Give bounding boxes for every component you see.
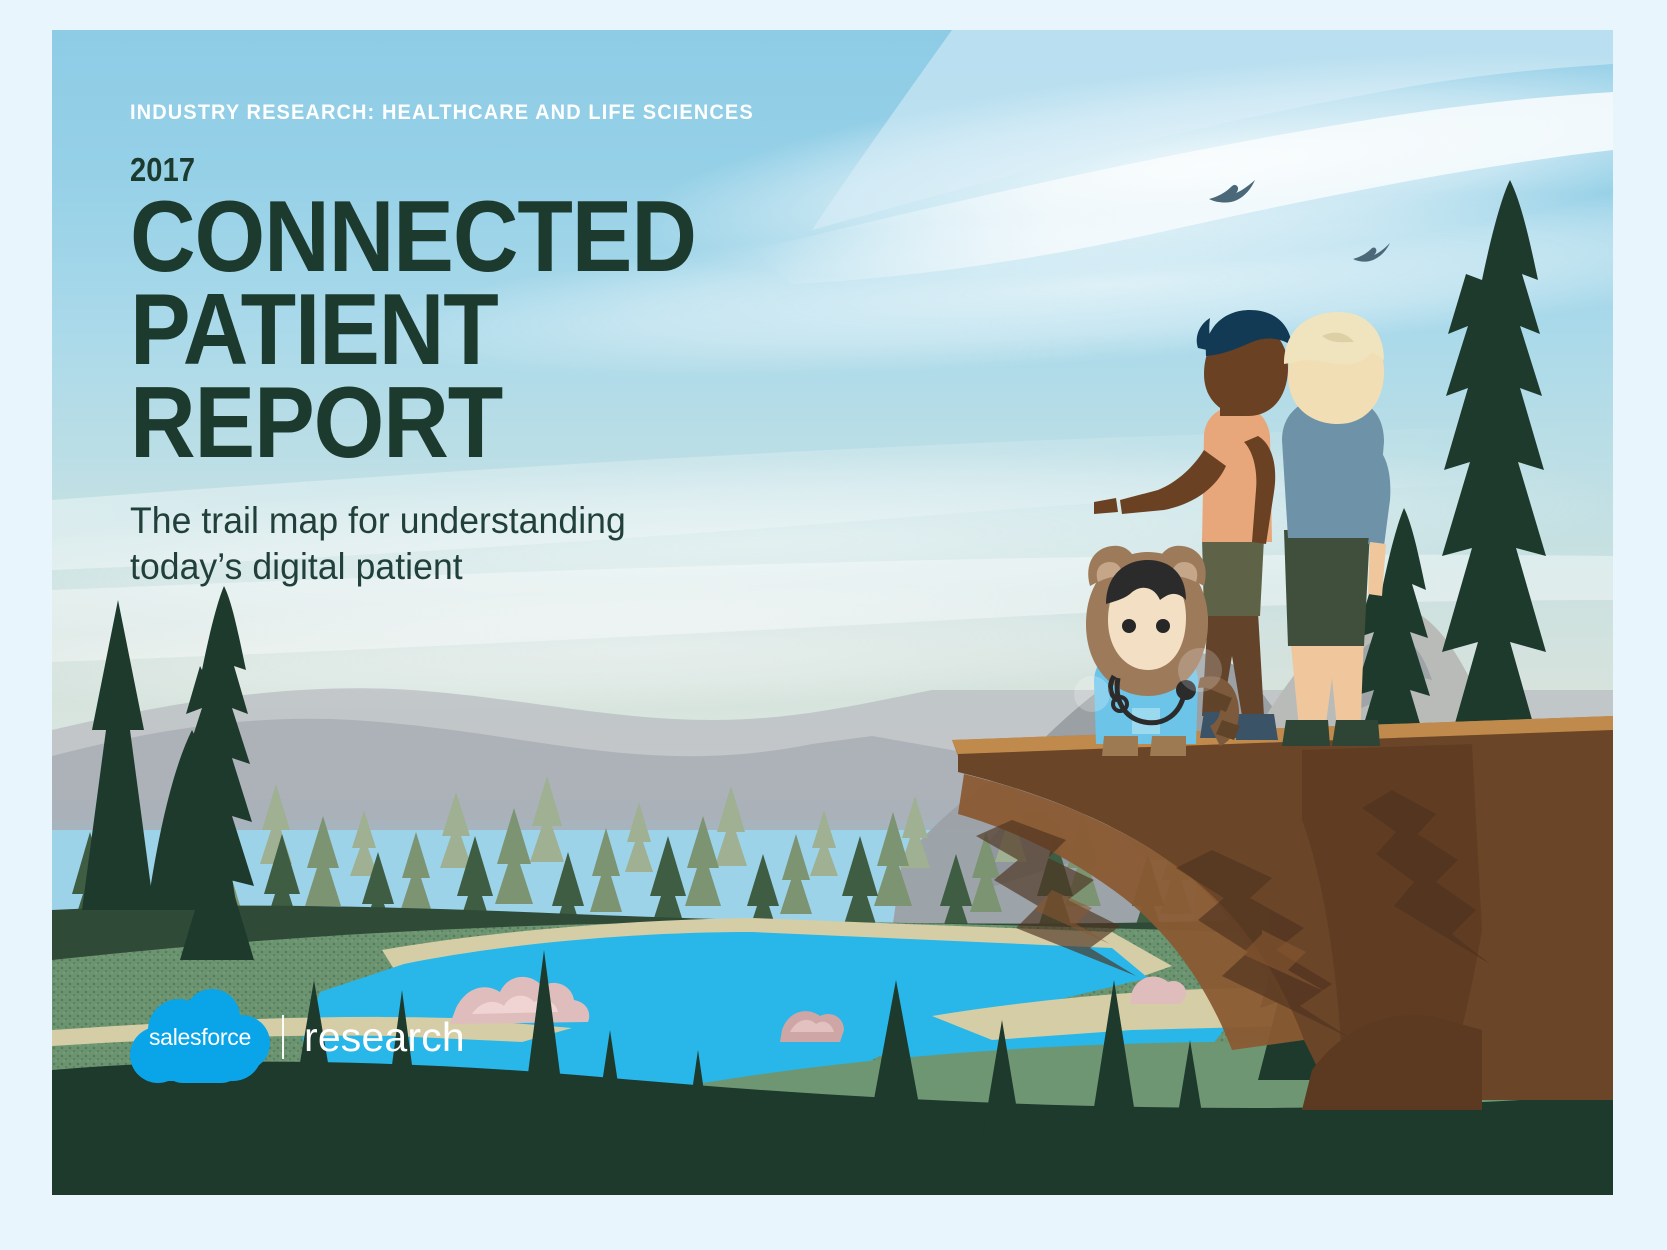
salesforce-wordmark-text: salesforce: [149, 1024, 251, 1051]
salesforce-wordmark: salesforce: [130, 989, 270, 1085]
cover-artwork: INDUSTRY RESEARCH: HEALTHCARE AND LIFE S…: [52, 30, 1613, 1195]
title-line-2: PATIENT: [130, 284, 868, 377]
cover-text-block: INDUSTRY RESEARCH: HEALTHCARE AND LIFE S…: [130, 100, 950, 589]
eyebrow-label: INDUSTRY RESEARCH: HEALTHCARE AND LIFE S…: [130, 100, 893, 125]
title-line-3: REPORT: [130, 377, 868, 470]
page-subtitle: The trail map for understanding today’s …: [130, 498, 917, 590]
salesforce-cloud-icon: salesforce: [130, 989, 270, 1085]
research-wordmark: research: [304, 1014, 465, 1061]
logo-divider: [282, 1015, 284, 1059]
subtitle-line-2: today’s digital patient: [130, 544, 917, 590]
title-line-1: CONNECTED: [130, 191, 868, 284]
salesforce-research-logo[interactable]: salesforce research: [130, 989, 465, 1085]
page-title: CONNECTED PATIENT REPORT: [130, 191, 868, 470]
report-cover-page: INDUSTRY RESEARCH: HEALTHCARE AND LIFE S…: [0, 0, 1667, 1250]
subtitle-line-1: The trail map for understanding: [130, 498, 917, 544]
hiker-blond: [1282, 312, 1390, 746]
